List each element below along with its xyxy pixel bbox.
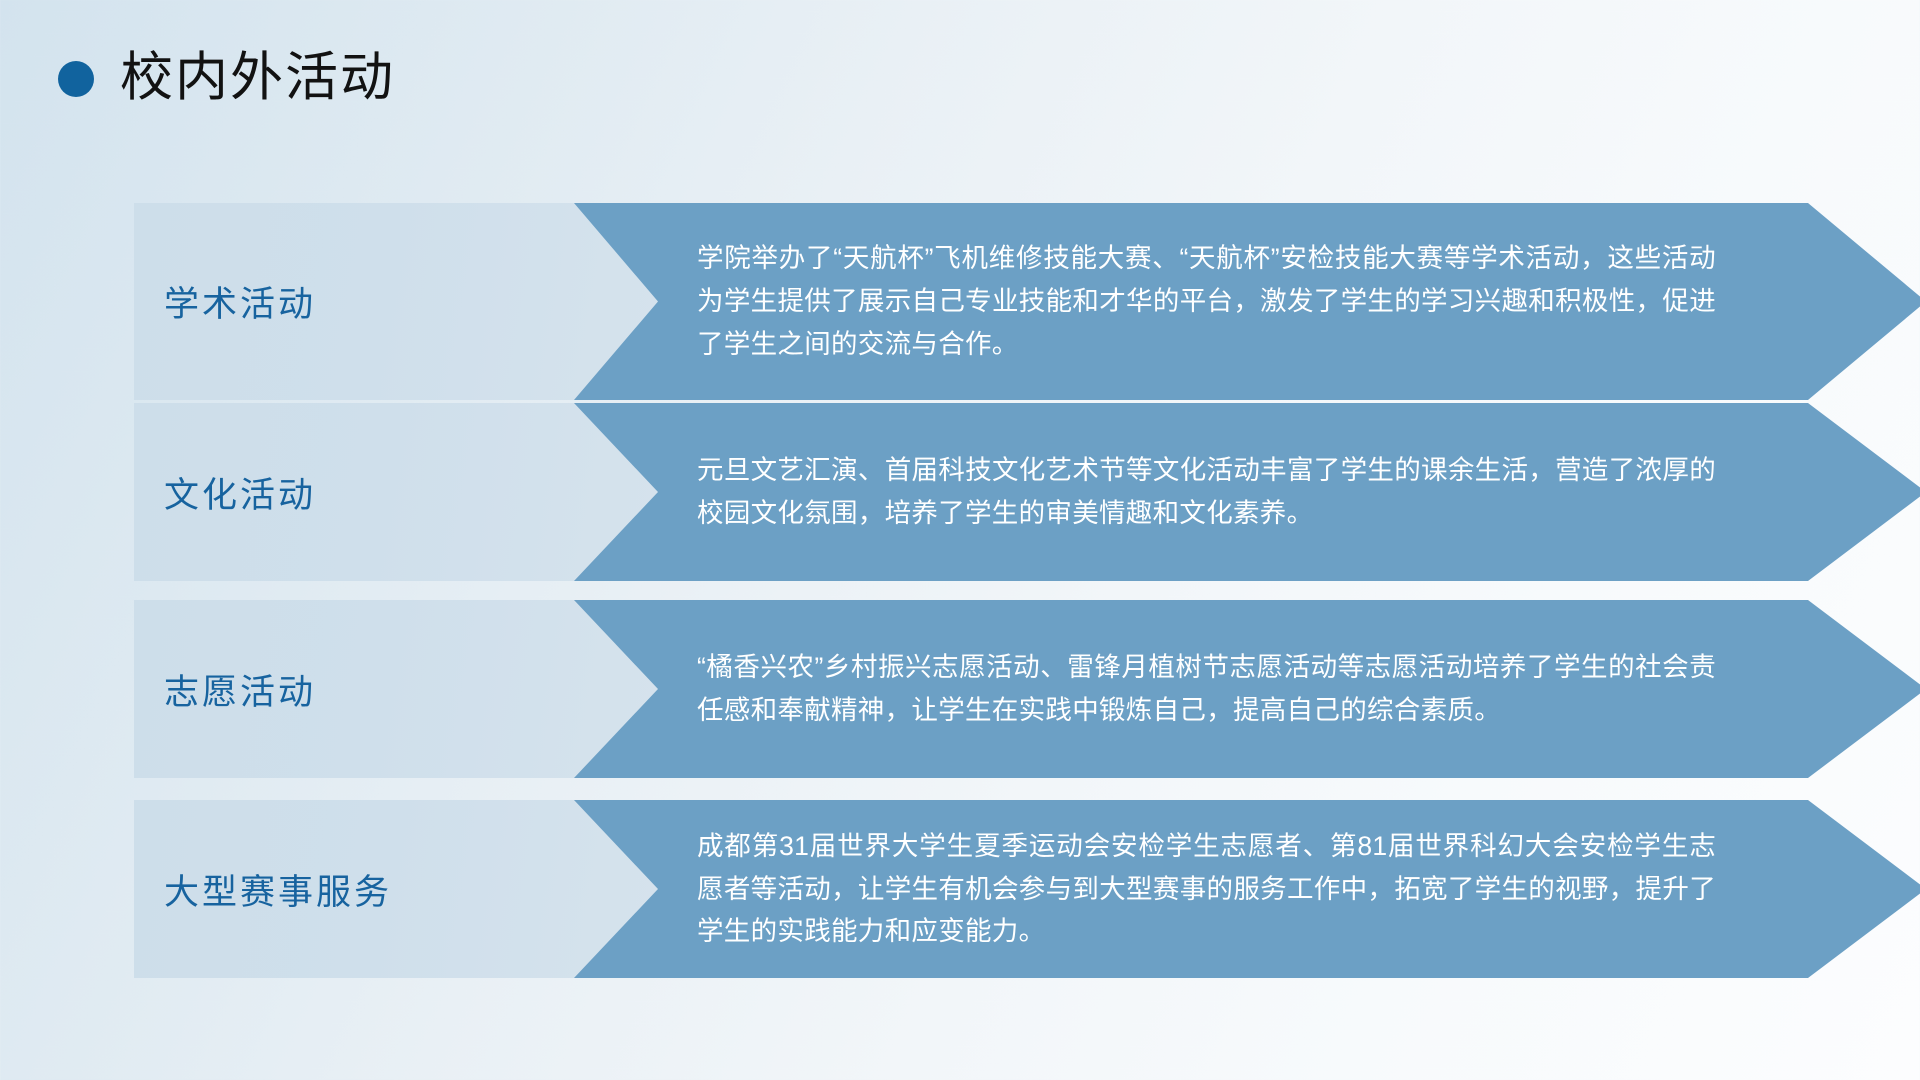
activity-row: 志愿活动“橘香兴农”乡村振兴志愿活动、雷锋月植树节志愿活动等志愿活动培养了学生的… [0,600,1920,778]
activity-body-chevron[interactable]: 学院举办了“天航杯”飞机维修技能大赛、“天航杯”安检技能大赛等学术活动，这些活动… [574,203,1920,400]
activity-body-text: “橘香兴农”乡村振兴志愿活动、雷锋月植树节志愿活动等志愿活动培养了学生的社会责任… [574,646,1920,732]
activity-chevron-list: 学术活动学院举办了“天航杯”飞机维修技能大赛、“天航杯”安检技能大赛等学术活动，… [0,0,1920,1080]
activity-row: 大型赛事服务成都第31届世界大学生夏季运动会安检学生志愿者、第81届世界科幻大会… [0,800,1920,978]
activity-label-text: 志愿活动 [134,664,316,715]
activity-row: 文化活动元旦文艺汇演、首届科技文化艺术节等文化活动丰富了学生的课余生活，营造了浓… [0,403,1920,581]
activity-body-chevron[interactable]: “橘香兴农”乡村振兴志愿活动、雷锋月植树节志愿活动等志愿活动培养了学生的社会责任… [574,600,1920,778]
activity-row: 学术活动学院举办了“天航杯”飞机维修技能大赛、“天航杯”安检技能大赛等学术活动，… [0,203,1920,400]
activity-body-text: 学院举办了“天航杯”飞机维修技能大赛、“天航杯”安检技能大赛等学术活动，这些活动… [574,237,1920,366]
activity-label-text: 大型赛事服务 [134,864,392,915]
activity-label-text: 文化活动 [134,467,316,518]
activity-body-chevron[interactable]: 元旦文艺汇演、首届科技文化艺术节等文化活动丰富了学生的课余生活，营造了浓厚的校园… [574,403,1920,581]
activity-body-chevron[interactable]: 成都第31届世界大学生夏季运动会安检学生志愿者、第81届世界科幻大会安检学生志愿… [574,800,1920,978]
activity-body-text: 元旦文艺汇演、首届科技文化艺术节等文化活动丰富了学生的课余生活，营造了浓厚的校园… [574,449,1920,535]
activity-body-text: 成都第31届世界大学生夏季运动会安检学生志愿者、第81届世界科幻大会安检学生志愿… [574,825,1920,954]
activity-label-text: 学术活动 [134,276,316,327]
